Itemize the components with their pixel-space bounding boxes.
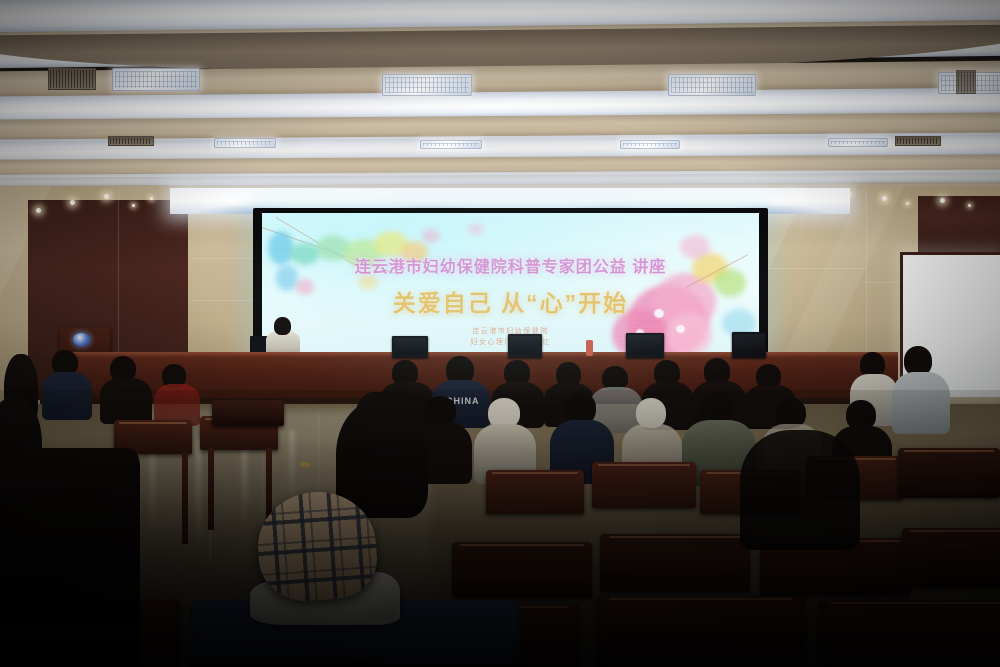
ceiling-panel-light: [382, 74, 472, 96]
ceiling-panel-light: [214, 138, 276, 148]
chair[interactable]: [486, 470, 584, 514]
chair[interactable]: [818, 600, 1000, 667]
air-vent: [108, 136, 154, 146]
chair[interactable]: [212, 400, 284, 426]
ceiling: [0, 0, 1000, 212]
screen-scanlines: [262, 213, 759, 352]
foreground-silhouette: [0, 448, 140, 667]
ceiling-panel-light: [828, 138, 888, 147]
head-table-top: [60, 352, 898, 357]
air-vent: [48, 68, 96, 90]
air-vent: [895, 136, 941, 146]
desk-monitor: [732, 332, 766, 358]
wall-seam: [760, 268, 866, 269]
desk-cup: [586, 340, 593, 356]
auditorium-photo: EXIT: [0, 0, 1000, 667]
chair[interactable]: [452, 542, 592, 598]
speaker-head: [274, 317, 291, 335]
foreground-silhouette: [740, 430, 860, 550]
air-vent: [956, 70, 976, 94]
desk-monitor: [508, 334, 542, 358]
chair[interactable]: [902, 528, 1000, 588]
chair-leg: [208, 448, 214, 530]
desk-monitor: [392, 336, 428, 358]
projection-screen-content: 连云港市妇幼保健院科普专家团公益 讲座 关爱自己 从“心”开始 连云港市妇幼保健…: [262, 213, 759, 352]
ceiling-panel-light: [620, 140, 680, 149]
chair-leg: [182, 452, 188, 544]
floor-object: [300, 462, 310, 467]
chair-leg-reflection: [242, 436, 247, 536]
ceiling-panel-light: [420, 140, 482, 149]
desk-monitor: [626, 333, 664, 358]
ceiling-panel-light: [668, 74, 756, 96]
ceiling-panel-light: [112, 68, 200, 91]
institution-emblem-icon: [73, 333, 90, 346]
chair[interactable]: [600, 534, 750, 592]
chair[interactable]: [596, 596, 806, 667]
chair[interactable]: [898, 448, 1000, 498]
chair-leg-reflection: [196, 440, 201, 555]
chair[interactable]: [592, 462, 696, 508]
